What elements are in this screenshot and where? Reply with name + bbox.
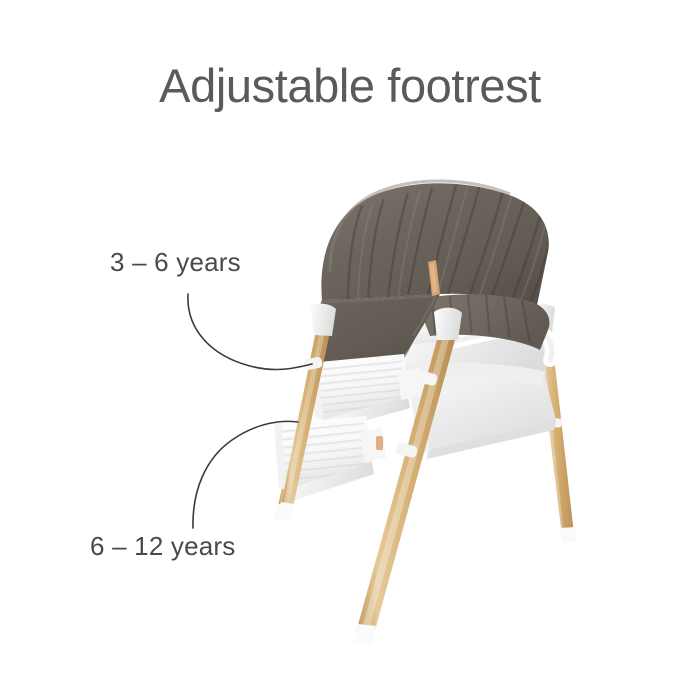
annotation-label-lower: 6 – 12 years	[90, 531, 236, 562]
annotation-label-upper: 3 – 6 years	[110, 247, 241, 278]
screenshot-canvas: Adjustable footrest	[0, 0, 700, 700]
product-illustration	[0, 0, 700, 700]
